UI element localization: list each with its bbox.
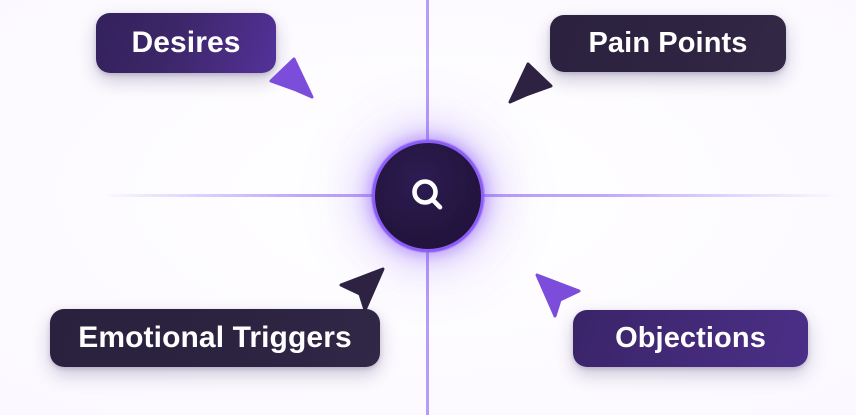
cursor-arrow-icon-pain-points — [508, 62, 554, 110]
quadrant-label-text: Pain Points — [588, 27, 747, 60]
quadrant-label-text: Desires — [131, 26, 240, 60]
quadrant-label-pain-points[interactable]: Pain Points — [550, 15, 786, 72]
quadrant-label-text: Objections — [615, 322, 766, 355]
quadrant-label-objections[interactable]: Objections — [573, 310, 808, 367]
quadrant-label-emotional-triggers[interactable]: Emotional Triggers — [50, 309, 380, 367]
quadrant-label-desires[interactable]: Desires — [96, 13, 276, 73]
search-icon — [406, 174, 450, 218]
cursor-arrow-icon-objections — [534, 272, 582, 320]
center-search-node[interactable] — [372, 140, 484, 252]
cursor-arrow-icon-emotional-triggers — [338, 266, 386, 314]
quadrant-diagram-canvas: Desires Pain Points Emotional Triggers O… — [0, 0, 856, 415]
quadrant-label-text: Emotional Triggers — [78, 321, 352, 355]
cursor-arrow-icon-desires — [268, 57, 314, 105]
